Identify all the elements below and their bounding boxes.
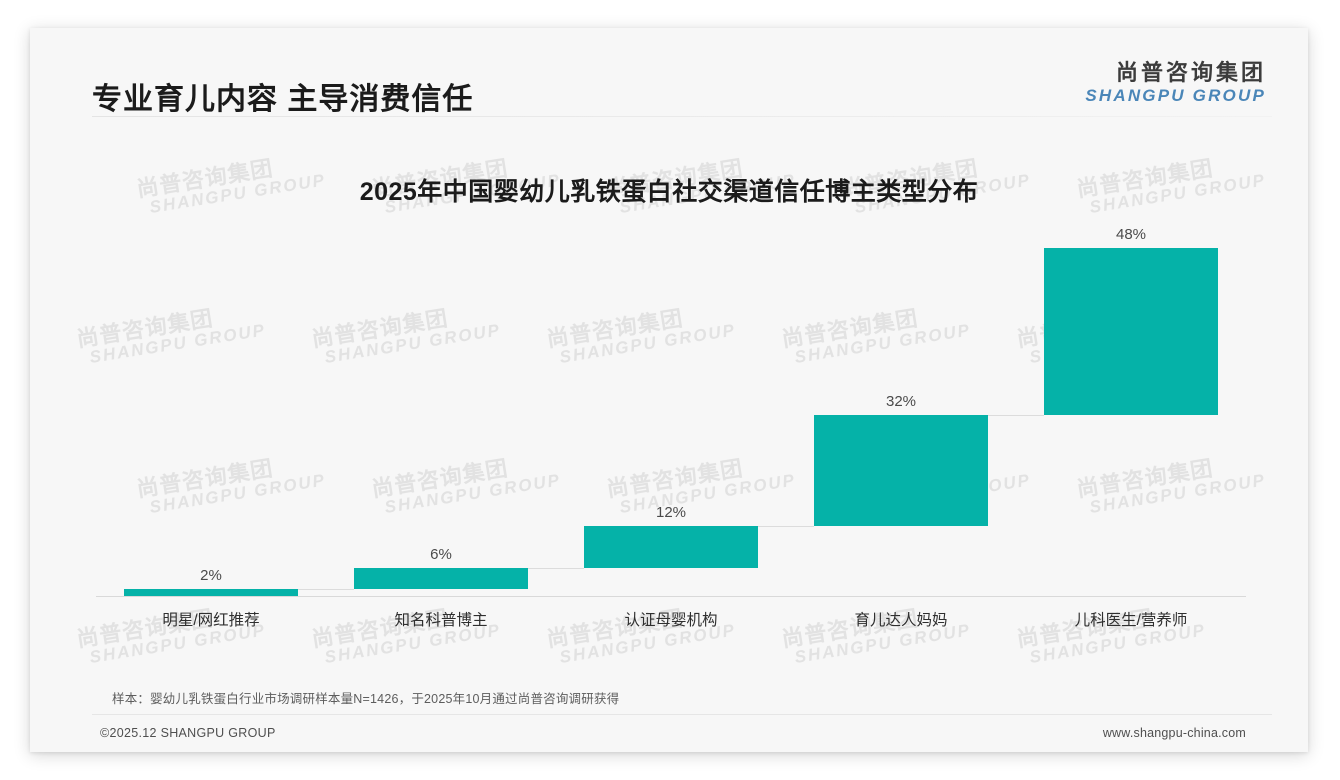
chart-plot-area: 2%6%12%32%48%: [96, 226, 1246, 596]
brand-logo-en: SHANGPU GROUP: [1085, 86, 1266, 106]
brand-logo-cn: 尚普咨询集团: [1085, 60, 1266, 85]
chart-bar[interactable]: [124, 589, 299, 596]
chart-bar-column[interactable]: 48%: [1016, 226, 1246, 596]
chart-title: 2025年中国婴幼儿乳铁蛋白社交渠道信任博主类型分布: [30, 172, 1308, 208]
footer-website: www.shangpu-china.com: [1103, 726, 1246, 740]
chart-category-label: 育儿达人妈妈: [786, 608, 1016, 630]
chart-footnote: 样本：婴幼儿乳铁蛋白行业市场调研样本量N=1426，于2025年10月通过尚普咨…: [112, 688, 619, 707]
chart-bar-value-label: 32%: [786, 393, 1016, 410]
chart-bar[interactable]: [814, 415, 989, 526]
chart-bar[interactable]: [584, 526, 759, 568]
chart-bar[interactable]: [1044, 248, 1219, 415]
chart-bar-value-label: 48%: [1016, 226, 1246, 243]
footer-divider: [92, 714, 1272, 715]
chart-bar-column[interactable]: 2%: [96, 226, 326, 596]
brand-logo: 尚普咨询集团 SHANGPU GROUP: [1085, 60, 1266, 106]
slide-card: 尚普咨询集团SHANGPU GROUP尚普咨询集团SHANGPU GROUP尚普…: [30, 28, 1308, 752]
chart-block: 2025年中国婴幼儿乳铁蛋白社交渠道信任博主类型分布 2%6%12%32%48%…: [30, 116, 1308, 676]
chart-category-label: 儿科医生/营养师: [1016, 608, 1246, 630]
chart-axis-line: [96, 596, 1246, 597]
page-title: 专业育儿内容 主导消费信任: [92, 74, 473, 118]
chart-connector-line: [988, 415, 1043, 416]
chart-connector-line: [758, 526, 813, 527]
chart-bar-value-label: 6%: [326, 546, 556, 563]
chart-bar-value-label: 12%: [556, 504, 786, 521]
slide-header: 专业育儿内容 主导消费信任 尚普咨询集团 SHANGPU GROUP: [30, 28, 1308, 116]
chart-bar-column[interactable]: 6%: [326, 226, 556, 596]
chart-category-label: 明星/网红推荐: [96, 608, 326, 630]
chart-bar-value-label: 2%: [96, 567, 326, 584]
footer-copyright: ©2025.12 SHANGPU GROUP: [100, 726, 276, 740]
chart-connector-line: [528, 568, 583, 569]
chart-bar-column[interactable]: 32%: [786, 226, 1016, 596]
chart-bar-column[interactable]: 12%: [556, 226, 786, 596]
chart-connector-line: [298, 589, 353, 590]
slide-footer: ©2025.12 SHANGPU GROUP www.shangpu-china…: [30, 716, 1308, 752]
chart-category-axis: 明星/网红推荐知名科普博主认证母婴机构育儿达人妈妈儿科医生/营养师: [96, 608, 1246, 638]
chart-category-label: 知名科普博主: [326, 608, 556, 630]
chart-bar[interactable]: [354, 568, 529, 589]
chart-category-label: 认证母婴机构: [556, 608, 786, 630]
